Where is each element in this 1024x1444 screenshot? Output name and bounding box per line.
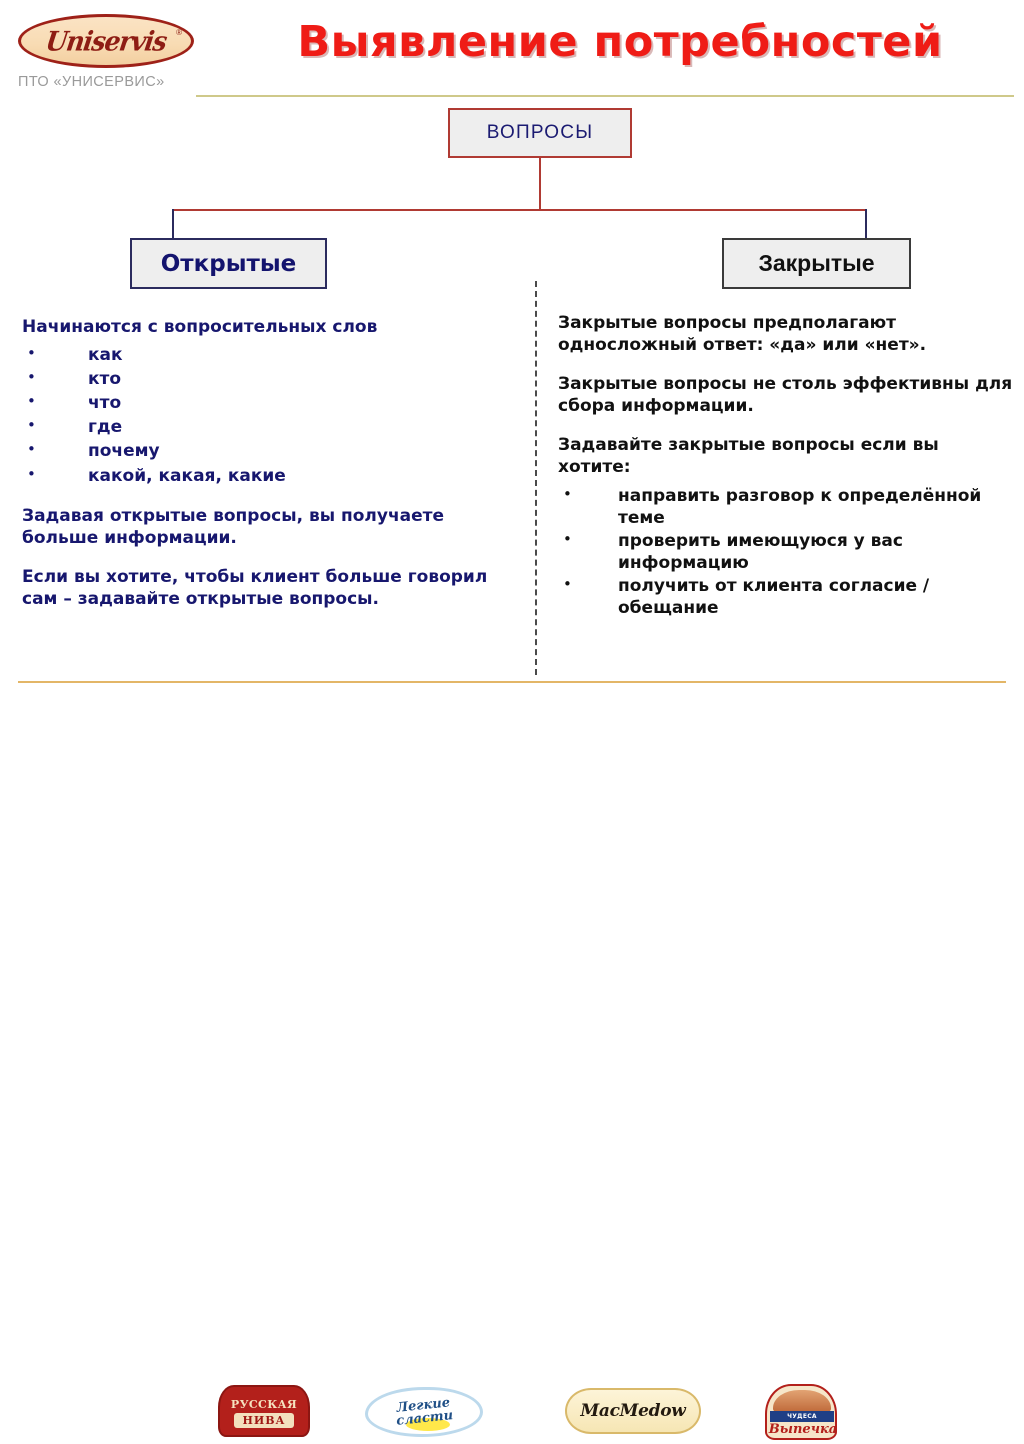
list-item-label: кто <box>88 368 121 390</box>
list-item: • как <box>22 344 512 366</box>
closed-questions-column: Закрытые вопросы предполагают односложны… <box>558 312 1013 637</box>
vypechka-label: Выпечка <box>767 1422 837 1437</box>
open-questions-paragraph-2: Если вы хотите, чтобы клиент больше гово… <box>22 566 512 610</box>
vypechka-pastry-icon <box>773 1390 831 1412</box>
closed-questions-paragraph-1: Закрытые вопросы предполагают односложны… <box>558 312 1013 356</box>
vypechka-band: ЧУДЕСА <box>770 1411 834 1422</box>
brand-logo-macmedow: MacMedow <box>565 1388 701 1438</box>
vypechka-band-label: ЧУДЕСА <box>787 1413 817 1420</box>
open-questions-column: Начинаются с вопросительных слов • как •… <box>22 316 512 627</box>
closed-questions-paragraph-2: Закрытые вопросы не столь эффективны для… <box>558 373 1013 417</box>
list-item-label: какой, какая, какие <box>88 465 286 487</box>
header-divider-rule <box>196 95 1014 97</box>
flowchart-node-questions: ВОПРОСЫ <box>448 108 632 158</box>
closed-questions-paragraph-3: Задавайте закрытые вопросы если вы хотит… <box>558 434 1013 478</box>
flowchart-node-open-questions: Открытые <box>130 238 327 289</box>
brand-logo-strip: РУССКАЯ НИВА Легкие сласти MacMedow ЧУДЕ… <box>0 690 1024 762</box>
vypechka-crest-icon: ЧУДЕСА Выпечка <box>765 1384 837 1440</box>
page-title: Выявление потребностей <box>225 17 1015 67</box>
bullet-icon: • <box>22 465 88 485</box>
open-questions-paragraph-1: Задавая открытые вопросы, вы получаете б… <box>22 505 512 549</box>
bullet-icon: • <box>558 575 618 595</box>
list-item-label: почему <box>88 440 160 462</box>
bullet-icon: • <box>22 344 88 364</box>
list-item-label: где <box>88 416 122 438</box>
list-item-label: как <box>88 344 123 366</box>
open-questions-intro: Начинаются с вопросительных слов <box>22 316 512 338</box>
connector-right-drop <box>865 209 867 239</box>
list-item-label: получить от клиента согласие / обещание <box>618 575 1013 619</box>
list-item: • кто <box>22 368 512 390</box>
footer-divider-rule <box>18 681 1006 683</box>
bullet-icon: • <box>22 368 88 388</box>
list-item: • почему <box>22 440 512 462</box>
flowchart-node-open-questions-label: Открытые <box>161 251 296 277</box>
russkaya-niva-line1: РУССКАЯ <box>231 1398 297 1411</box>
registered-trademark-icon: ® <box>176 28 182 37</box>
russkaya-niva-line2: НИВА <box>234 1413 293 1428</box>
macmedow-label: MacMedow <box>580 1401 685 1421</box>
list-item-label: проверить имеющуюся у вас информацию <box>618 530 1013 574</box>
company-subtitle: ПТО «УНИСЕРВИС» <box>18 74 218 90</box>
bullet-icon: • <box>22 440 88 460</box>
connector-root-stem <box>539 158 541 210</box>
slide-header: Uniservis ® ПТО «УНИСЕРВИС» Выявление по… <box>0 0 1024 100</box>
connector-horizontal-bar <box>172 209 867 211</box>
russkaya-niva-shield-icon: РУССКАЯ НИВА <box>218 1385 310 1437</box>
flowchart-node-questions-label: ВОПРОСЫ <box>487 122 593 144</box>
closed-questions-purposes-list: • направить разговор к определённой теме… <box>558 485 1013 620</box>
bullet-icon: • <box>22 416 88 436</box>
brand-logo-russkaya-niva: РУССКАЯ НИВА <box>218 1385 310 1443</box>
bullet-icon: • <box>558 530 618 550</box>
brand-logo-legkie-slasti: Легкие сласти <box>365 1387 483 1441</box>
flowchart-node-closed-questions-label: Закрытые <box>758 250 874 277</box>
list-item: • что <box>22 392 512 414</box>
list-item: • где <box>22 416 512 438</box>
uniservis-logo-ellipse: Uniservis ® <box>18 14 194 68</box>
uniservis-logo-wordmark: Uniservis <box>44 25 168 56</box>
list-item: • какой, какая, какие <box>22 465 512 487</box>
question-words-list: • как • кто • что • где • почему • какой… <box>22 344 512 487</box>
list-item-label: направить разговор к определённой теме <box>618 485 1013 529</box>
column-divider <box>535 281 537 675</box>
brand-logo-vypechka: ЧУДЕСА Выпечка <box>765 1384 837 1444</box>
connector-left-drop <box>172 209 174 239</box>
list-item: • направить разговор к определённой теме <box>558 485 1013 529</box>
company-logo: Uniservis ® ПТО «УНИСЕРВИС» <box>18 14 218 90</box>
bullet-icon: • <box>558 485 618 505</box>
legkie-slasti-blob-icon: Легкие сласти <box>365 1387 483 1437</box>
flowchart-node-closed-questions: Закрытые <box>722 238 911 289</box>
list-item-label: что <box>88 392 121 414</box>
list-item: • проверить имеющуюся у вас информацию <box>558 530 1013 574</box>
macmedow-oval-icon: MacMedow <box>565 1388 701 1434</box>
bullet-icon: • <box>22 392 88 412</box>
list-item: • получить от клиента согласие / обещани… <box>558 575 1013 619</box>
